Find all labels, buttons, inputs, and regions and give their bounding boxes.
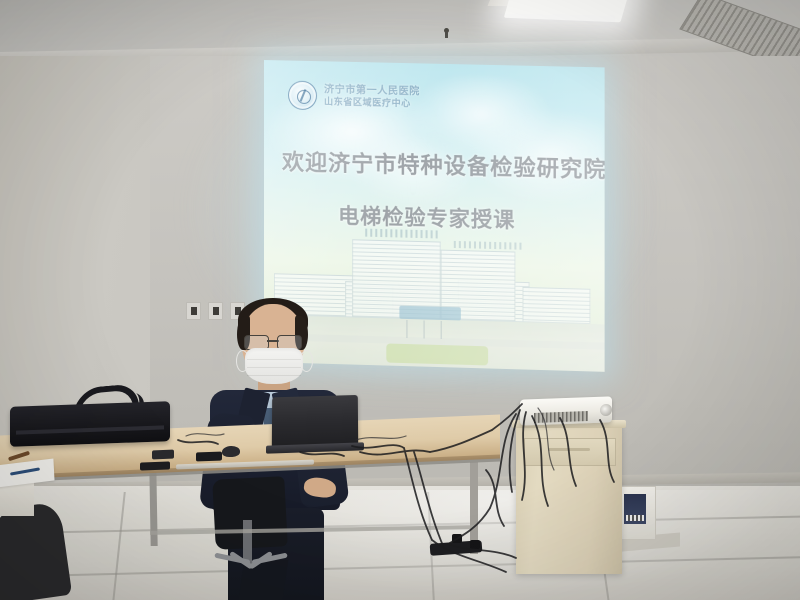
hospital-name-text: 济宁市第一人民医院 山东省区域医疗中心 [324, 84, 420, 109]
flagpole [440, 321, 441, 339]
hospital-name-line1: 济宁市第一人民医院 [324, 84, 420, 97]
cabinet-drawer[interactable] [524, 438, 616, 466]
black-accessory[interactable] [196, 452, 222, 462]
slide-title-line2: 电梯检验专家授课 [338, 200, 515, 235]
flagpole [423, 321, 424, 339]
building-roof-sign-2 [454, 241, 522, 250]
face-mask-icon [245, 348, 303, 384]
projector-vent-grille [534, 411, 588, 423]
hospital-name-line2: 山东省区域医疗中心 [324, 96, 420, 109]
power-plug[interactable] [470, 540, 480, 549]
mobile-phone[interactable] [152, 450, 174, 460]
flagpole [406, 320, 407, 338]
building-entry-canopy [400, 306, 461, 320]
office-chair-base [214, 556, 288, 570]
eyeglasses-icon [244, 335, 302, 349]
hospital-emblem-icon [288, 81, 317, 111]
equipment-box-label [624, 494, 646, 524]
slide-logo-block: 济宁市第一人民医院 山东省区域医疗中心 [288, 81, 420, 113]
laptop-screen[interactable] [272, 395, 358, 449]
power-plug[interactable] [452, 534, 462, 543]
building-lawn [386, 343, 488, 365]
sprinkler-head-icon [444, 28, 449, 33]
conference-room-photo: 济宁市第一人民医院 山东省区域医疗中心 欢迎济宁市特种设备检验研究院 电梯检验专… [0, 0, 800, 600]
cabinet-drawer-handle[interactable] [548, 448, 590, 451]
laptop-bag[interactable] [10, 401, 170, 447]
computer-mouse[interactable] [222, 446, 240, 458]
building-wing-right-2 [522, 287, 591, 324]
small-device[interactable] [140, 461, 170, 470]
